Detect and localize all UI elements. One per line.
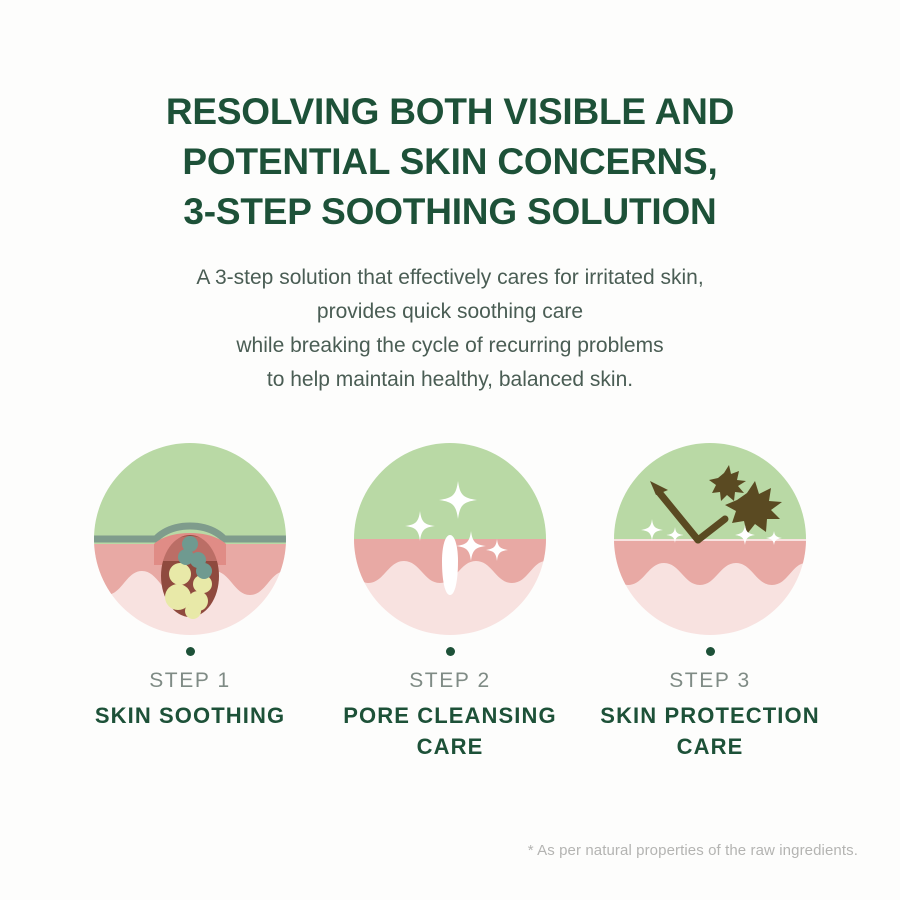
step-1-number: STEP 1: [149, 669, 231, 693]
description-paragraph: A 3-step solution that effectively cares…: [0, 261, 900, 397]
description-line-3: while breaking the cycle of recurring pr…: [0, 329, 900, 363]
step-item-2: STEP 2 PORE CLEANSING CARE: [320, 443, 580, 762]
step-item-1: STEP 1 SKIN SOOTHING: [60, 443, 320, 731]
step-3-bullet-dot: [706, 647, 715, 656]
step-2-label: PORE CLEANSING CARE: [325, 700, 575, 762]
description-line-4: to help maintain healthy, balanced skin.: [0, 363, 900, 397]
inflamed-pore-icon: [94, 443, 286, 635]
step-1-bullet-dot: [186, 647, 195, 656]
footnote: * As per natural properties of the raw i…: [528, 842, 858, 859]
clean-pore-icon: [354, 443, 546, 635]
step-2-number: STEP 2: [409, 669, 491, 693]
infographic-page: RESOLVING BOTH VISIBLE AND POTENTIAL SKI…: [0, 0, 900, 900]
step-item-3: STEP 3 SKIN PROTECTION CARE: [580, 443, 840, 762]
step-1-illustration: [94, 443, 286, 635]
headline-line-1: RESOLVING BOTH VISIBLE AND: [0, 87, 900, 137]
step-3-illustration: [614, 443, 806, 635]
step-2-illustration: [354, 443, 546, 635]
step-3-number: STEP 3: [669, 669, 751, 693]
step-3-label: SKIN PROTECTION CARE: [585, 700, 835, 762]
description-line-2: provides quick soothing care: [0, 295, 900, 329]
headline-line-2: POTENTIAL SKIN CONCERNS,: [0, 137, 900, 187]
steps-row: STEP 1 SKIN SOOTHING: [0, 443, 900, 762]
headline-line-3: 3-STEP SOOTHING SOLUTION: [0, 187, 900, 237]
page-title: RESOLVING BOTH VISIBLE AND POTENTIAL SKI…: [0, 87, 900, 237]
step-2-bullet-dot: [446, 647, 455, 656]
skin-barrier-icon: [614, 443, 806, 635]
description-line-1: A 3-step solution that effectively cares…: [0, 261, 900, 295]
step-1-label: SKIN SOOTHING: [95, 700, 285, 731]
